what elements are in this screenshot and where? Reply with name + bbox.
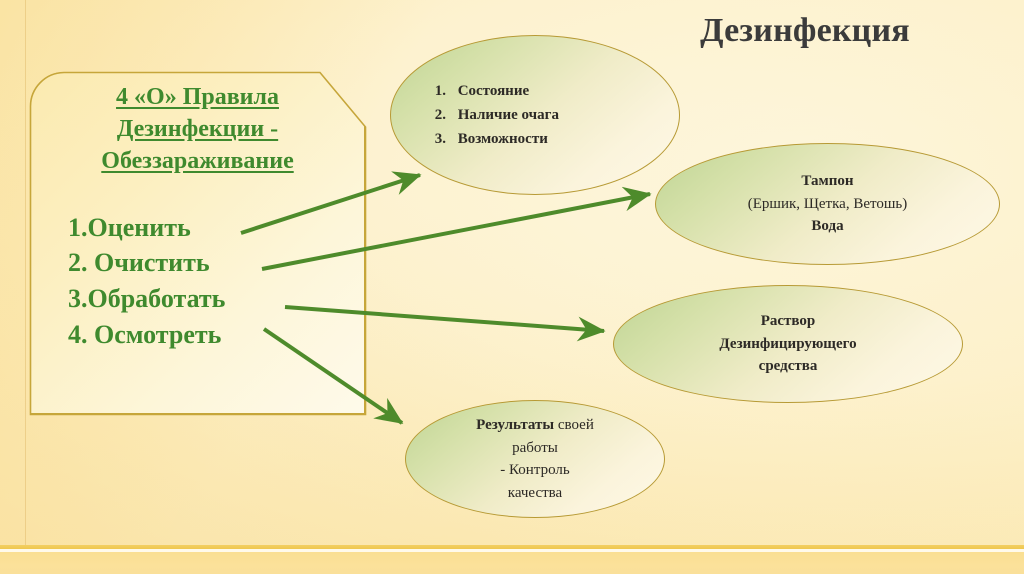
results-line-3: - Контроль (427, 459, 644, 482)
ellipse-swab: Тампон (Ершик, Щетка, Ветошь) Вода (655, 143, 1000, 265)
results-line-1: Результаты своей (427, 414, 644, 437)
results-line-2: работы (427, 437, 644, 460)
swab-line-2: (Ершик, Щетка, Ветошь) (683, 193, 971, 216)
ellipse-assessment: Состояние Наличие очага Возможности (390, 35, 680, 195)
rules-list: 1.Оценить 2. Очистить 3.Обработать 4. Ос… (46, 210, 349, 352)
results-line-1-rest: своей (554, 417, 594, 433)
list-item: 2. Очистить (68, 245, 349, 281)
swab-line-3: Вода (683, 215, 971, 238)
slide-canvas: Дезинфекция 4 «О» Правила Дезинфекции - … (0, 0, 1024, 574)
solution-line-2: Дезинфицирующего (642, 333, 934, 356)
page-title: Дезинфекция (600, 12, 1010, 50)
solution-line-3: средства (642, 355, 934, 378)
ellipse-swab-content: Тампон (Ершик, Щетка, Ветошь) Вода (683, 170, 971, 238)
list-item: Состояние (450, 79, 653, 103)
ellipse-solution: Раствор Дезинфицирующего средства (613, 285, 963, 403)
list-item: 1.Оценить (68, 210, 349, 246)
list-item: Наличие очага (450, 103, 653, 127)
rules-heading: 4 «О» Правила Дезинфекции - Обеззаражива… (46, 82, 349, 178)
solution-line-1: Раствор (642, 310, 934, 333)
bottom-band (0, 552, 1024, 574)
ellipse-assessment-content: Состояние Наличие очага Возможности (418, 79, 653, 152)
rules-box-content: 4 «О» Правила Дезинфекции - Обеззаражива… (30, 72, 365, 414)
background-vertical-rule (25, 0, 26, 549)
assessment-list: Состояние Наличие очага Возможности (428, 79, 653, 152)
list-item: 3.Обработать (68, 281, 349, 317)
list-item: 4. Осмотреть (68, 317, 349, 353)
results-line-1-bold: Результаты (476, 417, 554, 433)
ellipse-results: Результаты своей работы - Контроль качес… (405, 400, 665, 518)
ellipse-solution-content: Раствор Дезинфицирующего средства (642, 310, 934, 378)
results-line-4: качества (427, 482, 644, 505)
swab-line-1: Тампон (683, 170, 971, 193)
ellipse-results-content: Результаты своей работы - Контроль качес… (427, 414, 644, 504)
list-item: Возможности (450, 127, 653, 151)
